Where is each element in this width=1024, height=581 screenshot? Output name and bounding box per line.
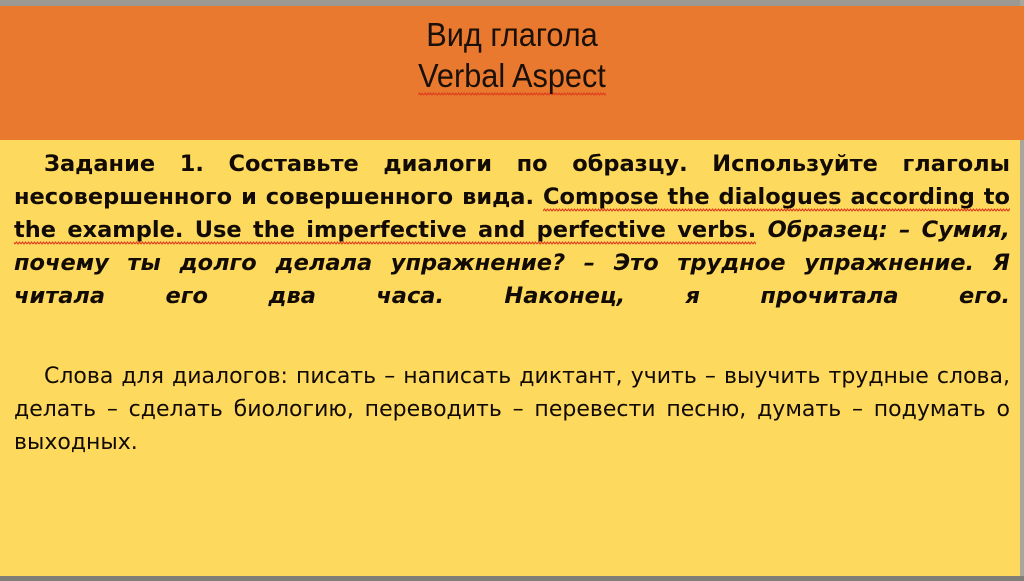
header-band: Вид глагола Verbal Aspect [0, 6, 1024, 140]
title-block: Вид глагола Verbal Aspect [0, 14, 1024, 96]
title-english-wrapper: Verbal Aspect [36, 55, 988, 96]
title-english: Verbal Aspect [418, 57, 606, 96]
bottom-border-strip [0, 576, 1024, 581]
example-label: Образец: [756, 217, 899, 243]
slide: Вид глагола Verbal Aspect Задание 1. Сос… [0, 0, 1024, 581]
words-list: Слова для диалогов: писать – написать ди… [14, 364, 1010, 455]
words-paragraph: Слова для диалогов: писать – написать ди… [14, 360, 1010, 492]
task-paragraph: Задание 1. Составьте диалоги по образцу.… [14, 148, 1010, 346]
body-text-area: Задание 1. Составьте диалоги по образцу.… [0, 140, 1024, 576]
title-russian: Вид глагола [36, 14, 988, 55]
